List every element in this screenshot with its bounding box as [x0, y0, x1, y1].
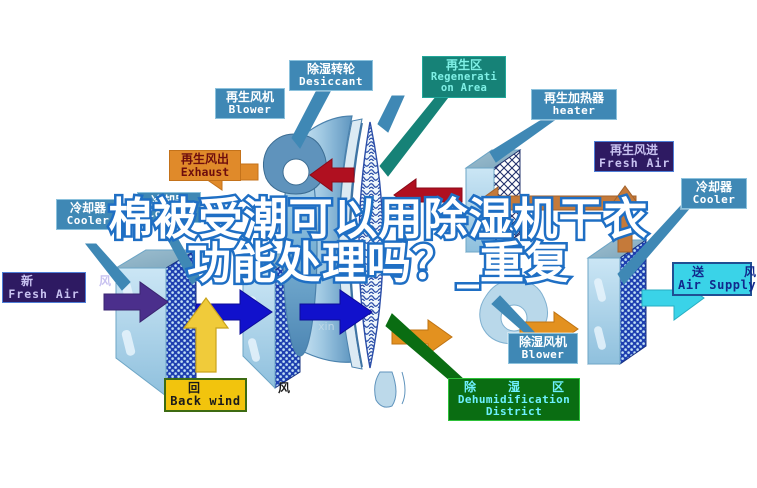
label-regen-heater: 再生加热器 heater [531, 89, 617, 120]
label-cooler-left-a: 冷却器 Cooler [56, 199, 120, 230]
label-cn: 冷却器 [61, 202, 115, 215]
label-regen-fresh-air: 再生风进 Fresh Air [594, 141, 674, 172]
label-cn: 除湿转轮 [294, 63, 368, 76]
regen-fan [263, 134, 326, 194]
label-cn: 再生风机 [220, 91, 280, 104]
dehumidifier-schematic-image: xin [0, 0, 757, 488]
label-cn: 再生风出 [174, 153, 236, 166]
label-dehumid-blower: 除湿风机 Blower [508, 333, 578, 364]
label-en: Blower [513, 349, 573, 361]
regen-hot-arrow-2 [394, 179, 462, 211]
label-cn: 冷却器 [686, 181, 742, 194]
label-air-supply: 送 风 Air Supply [672, 262, 752, 296]
label-cn: 回 风 [170, 382, 241, 395]
label-back-wind: 回 风 Back wind [164, 378, 247, 412]
label-cn: 除湿风机 [513, 336, 573, 349]
label-regeneration-area: 再生区 Regenerati on Area [422, 56, 506, 98]
label-cn: 除 湿 区 [453, 381, 575, 394]
label-cooler-left-b: 冷却器 Cooler [137, 192, 201, 223]
label-cn: 再生加热器 [536, 92, 612, 105]
label-en: Desiccant [294, 76, 368, 88]
label-en: Dehumidification District [453, 394, 575, 418]
label-cn: 再生区 [427, 59, 501, 72]
label-en: Cooler [686, 194, 742, 206]
label-en: Cooler [142, 208, 196, 220]
label-en: Fresh Air [7, 288, 81, 300]
label-en: Regenerati on Area [427, 72, 501, 95]
label-regen-blower: 再生风机 Blower [215, 88, 285, 119]
label-en: Blower [220, 104, 280, 116]
label-cooler-right: 冷却器 Cooler [681, 178, 747, 209]
label-cn: 送 风 [678, 266, 746, 279]
label-cn: 新 风 [7, 275, 81, 288]
label-cn: 冷却器 [142, 195, 196, 208]
label-en: Back wind [170, 395, 241, 408]
label-regen-exhaust: 再生风出 Exhaust [169, 150, 241, 181]
cooler-coil-left-1 [116, 250, 196, 396]
label-en: Fresh Air [599, 157, 669, 169]
label-en: Exhaust [174, 166, 236, 178]
label-cn: 再生风进 [599, 144, 669, 157]
label-en: Air Supply [678, 279, 746, 292]
label-desiccant-rotor: 除湿转轮 Desiccant [289, 60, 373, 91]
label-fresh-air-in: 新 风 Fresh Air [2, 272, 86, 303]
label-en: Cooler [61, 215, 115, 227]
schematic-artwork: xin [0, 0, 757, 488]
svg-text:xin: xin [318, 320, 335, 333]
label-en: heater [536, 105, 612, 117]
label-dehumid-district: 除 湿 区 Dehumidification District [448, 378, 580, 421]
